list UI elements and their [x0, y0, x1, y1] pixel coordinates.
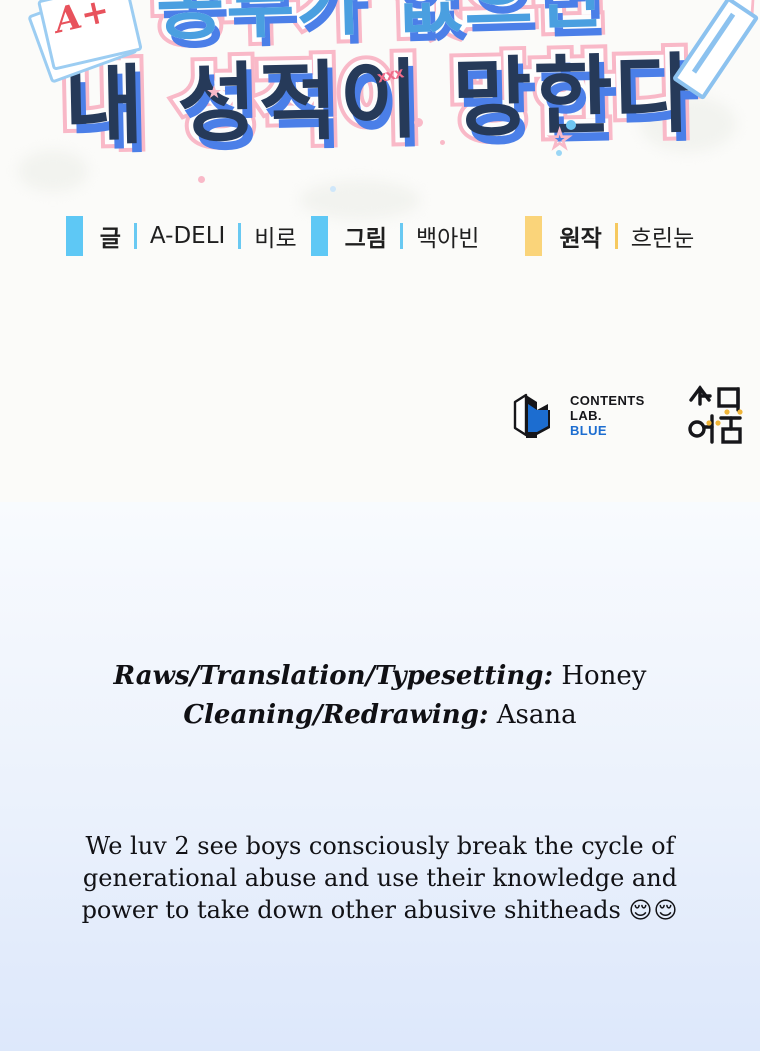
credit-separator [238, 223, 241, 249]
scanlation-name-1: Honey [561, 661, 646, 691]
scanlation-role-2: Cleaning/Redrawing: [183, 700, 488, 730]
contents-lab-line-3: BLUE [570, 423, 645, 438]
scanlation-credit-line: Cleaning/Redrawing: Asana [0, 696, 760, 735]
author-credits-strip: 글 A-DELI 비로 그림 백아빈 원작 흐린눈 [0, 212, 760, 260]
credit-bar-blue [66, 216, 83, 256]
credit-group-original: 원작 흐린눈 [525, 216, 694, 256]
contents-lab-blue-logo: CONTENTS LAB. BLUE [512, 390, 645, 440]
contents-lab-line-2: LAB. [570, 408, 645, 423]
scanlation-note-panel: Raws/Translation/Typesetting: Honey Clea… [0, 502, 760, 1051]
credit-name-adeli: A-DELI [150, 223, 225, 249]
webtoon-credits-page: 공부가 없으면 공부가 없으면 내 성적이 망한다 내 성적이 망한다 A+ [0, 0, 760, 1051]
star-solid-deco: ★ [206, 82, 222, 103]
credit-bar-blue [311, 216, 328, 256]
credit-name-biro: 비로 [254, 219, 296, 253]
studio-logo-icon [687, 382, 749, 448]
credit-name-baekabin: 백아빈 [416, 219, 479, 253]
scanlation-role-1: Raws/Translation/Typesetting: [114, 661, 554, 691]
contents-lab-line-1: CONTENTS [570, 393, 645, 408]
translator-note: We luv 2 see boys consciously break the … [60, 830, 700, 927]
credit-role-writer: 글 [100, 219, 121, 253]
credit-group-writer: 글 A-DELI 비로 [66, 216, 297, 256]
cover-art-panel: 공부가 없으면 공부가 없으면 내 성적이 망한다 내 성적이 망한다 A+ [0, 0, 760, 502]
credit-separator [615, 223, 618, 249]
relieved-face-emoji: 😌😌 [628, 898, 678, 924]
credit-separator [400, 223, 403, 249]
publisher-logo-row: CONTENTS LAB. BLUE [512, 378, 742, 452]
scanlation-name-2: Asana [497, 700, 577, 730]
credit-role-original: 원작 [559, 219, 601, 253]
title-line-2-text: 내 성적이 망한다 [63, 23, 697, 161]
credit-group-art: 그림 백아빈 [311, 216, 480, 256]
credit-separator [134, 223, 137, 249]
credit-name-heurinnun: 흐린눈 [631, 219, 694, 253]
translator-note-text: We luv 2 see boys consciously break the … [82, 832, 678, 924]
credit-bar-yellow [525, 216, 542, 256]
credit-role-art: 그림 [345, 219, 387, 253]
star-outline-deco: ☆ [548, 124, 571, 155]
scanlation-credit-line: Raws/Translation/Typesetting: Honey [0, 657, 760, 696]
contents-lab-mark-icon [512, 390, 558, 440]
scanlation-credits: Raws/Translation/Typesetting: Honey Clea… [0, 657, 760, 735]
contents-lab-wordmark: CONTENTS LAB. BLUE [570, 393, 645, 438]
studio-logo [687, 382, 749, 448]
